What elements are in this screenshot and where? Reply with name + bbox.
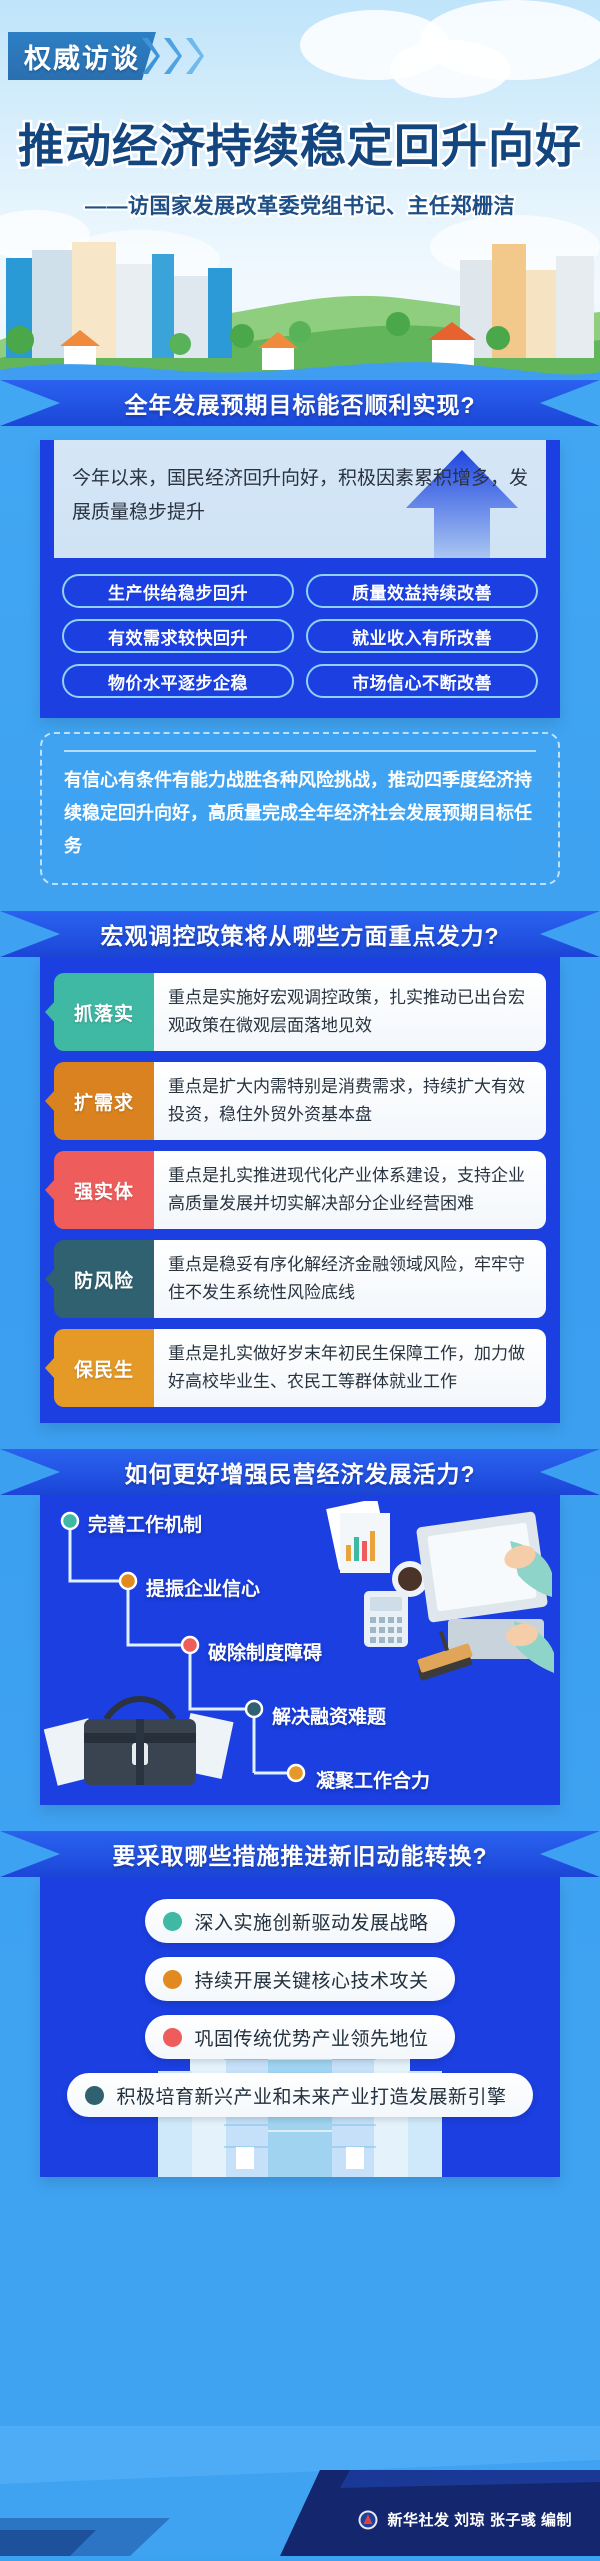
measure-item[interactable]: 深入实施创新驱动发展战略 xyxy=(145,1899,454,1943)
policy-tag: 保民生 xyxy=(54,1329,154,1407)
page-title: 推动经济持续稳定回升向好 xyxy=(0,110,600,176)
highlight-pill[interactable]: 物价水平逐步企稳 xyxy=(62,664,294,698)
step-dots xyxy=(40,1495,560,1805)
section-panel-2: 抓落实 重点是实施好宏观调控政策，扎实推动已出台宏观政策在微观层面落地见效 扩需… xyxy=(40,957,560,1423)
policy-row[interactable]: 扩需求 重点是扩大内需特别是消费需求，持续扩大有效投资，稳住外贸外资基本盘 xyxy=(54,1062,546,1140)
measure-label: 积极培育新兴产业和未来产业打造发展新引擎 xyxy=(116,2082,506,2109)
policy-row[interactable]: 抓落实 重点是实施好宏观调控政策，扎实推动已出台宏观政策在微观层面落地见效 xyxy=(54,973,546,1051)
section-panel-1: 今年以来，国民经济回升向好，积极因素累积增多，发展质量稳步提升 生产供给稳步回升… xyxy=(40,440,560,718)
policy-row[interactable]: 防风险 重点是稳妥有序化解经济金融领域风险，牢牢守住不发生系统性风险底线 xyxy=(54,1240,546,1318)
section-1-note: 有信心有条件有能力战胜各种风险挑战，推动四季度经济持续稳定回升向好，高质量完成全… xyxy=(40,732,560,885)
policy-item-list: 抓落实 重点是实施好宏观调控政策，扎实推动已出台宏观政策在微观层面落地见效 扩需… xyxy=(40,957,560,1423)
measure-item[interactable]: 巩固传统优势产业领先地位 xyxy=(145,2015,454,2059)
highlight-pill[interactable]: 就业收入有所改善 xyxy=(306,619,538,653)
category-tag: 权威访谈 xyxy=(8,32,156,80)
measure-label: 深入实施创新驱动发展战略 xyxy=(194,1908,428,1935)
credit-line: 新华社发 刘琼 张子彧 编制 xyxy=(358,2509,572,2530)
divider xyxy=(64,750,536,752)
policy-row[interactable]: 强实体 重点是扎实推进现代化产业体系建设，支持企业高质量发展并切实解决部分企业经… xyxy=(54,1151,546,1229)
bullet-dot-icon xyxy=(85,2086,104,2105)
section-heading-3: 如何更好增强民营经济发展活力? xyxy=(0,1449,600,1495)
double-chevron-right-icon xyxy=(140,32,204,80)
page-subtitle: ——访国家发展改革委党组书记、主任郑栅洁 xyxy=(0,190,600,220)
section-heading-1: 全年发展预期目标能否顺利实现? xyxy=(0,380,600,426)
bullet-dot-icon xyxy=(163,1970,182,1989)
cloud-decoration xyxy=(420,0,600,80)
highlight-pill[interactable]: 质量效益持续改善 xyxy=(306,574,538,608)
section-panel-4: 深入实施创新驱动发展战略 持续开展关键核心技术攻关 巩固传统优势产业领先地位 积… xyxy=(40,1877,560,2177)
section-heading-label: 如何更好增强民营经济发展活力? xyxy=(124,1455,475,1489)
policy-tag: 防风险 xyxy=(54,1240,154,1318)
policy-tag: 强实体 xyxy=(54,1151,154,1229)
hero-banner: 权威访谈 推动经济持续稳定回升向好 ——访国家发展改革委党组书记、主任郑栅洁 xyxy=(0,0,600,400)
highlight-pill[interactable]: 生产供给稳步回升 xyxy=(62,574,294,608)
bullet-dot-icon xyxy=(163,2028,182,2047)
policy-text: 重点是扎实推进现代化产业体系建设，支持企业高质量发展并切实解决部分企业经营困难 xyxy=(154,1151,546,1229)
note-text: 有信心有条件有能力战胜各种风险挑战，推动四季度经济持续稳定回升向好，高质量完成全… xyxy=(64,764,536,863)
measure-item[interactable]: 持续开展关键核心技术攻关 xyxy=(145,1957,454,2001)
highlight-pill-list: 生产供给稳步回升 质量效益持续改善 有效需求较快回升 就业收入有所改善 物价水平… xyxy=(40,558,560,718)
city-skyline-illustration xyxy=(0,220,600,400)
section-heading-label: 全年发展预期目标能否顺利实现? xyxy=(124,386,475,420)
footer-decoration xyxy=(0,2426,600,2556)
section-heading-label: 要采取哪些措施推进新旧动能转换? xyxy=(112,1837,487,1871)
credit-text: 新华社发 刘琼 张子彧 编制 xyxy=(387,2509,572,2530)
section-heading-label: 宏观调控政策将从哪些方面重点发力? xyxy=(100,917,499,951)
policy-row[interactable]: 保民生 重点是扎实做好岁末年初民生保障工作，加力做好高校毕业生、农民工等群体就业… xyxy=(54,1329,546,1407)
section-heading-4: 要采取哪些措施推进新旧动能转换? xyxy=(0,1831,600,1877)
lead-card: 今年以来，国民经济回升向好，积极因素累积增多，发展质量稳步提升 xyxy=(54,440,546,558)
policy-text: 重点是扩大内需特别是消费需求，持续扩大有效投资，稳住外贸外资基本盘 xyxy=(154,1062,546,1140)
bullet-dot-icon xyxy=(163,1912,182,1931)
measure-item[interactable]: 积极培育新兴产业和未来产业打造发展新引擎 xyxy=(67,2073,532,2117)
highlight-pill[interactable]: 有效需求较快回升 xyxy=(62,619,294,653)
policy-text: 重点是实施好宏观调控政策，扎实推动已出台宏观政策在微观层面落地见效 xyxy=(154,973,546,1051)
measure-list: 深入实施创新驱动发展战略 持续开展关键核心技术攻关 巩固传统优势产业领先地位 积… xyxy=(40,1899,560,2117)
xinhua-logo-icon xyxy=(358,2510,378,2530)
section-panel-3: 完善工作机制 提振企业信心 破除制度障碍 解决融资难题 凝聚工作合力 xyxy=(40,1495,560,1805)
page-footer: 新华社发 刘琼 张子彧 编制 xyxy=(0,2426,600,2556)
policy-text: 重点是稳妥有序化解经济金融领域风险，牢牢守住不发生系统性风险底线 xyxy=(154,1240,546,1318)
policy-text: 重点是扎实做好岁末年初民生保障工作，加力做好高校毕业生、农民工等群体就业工作 xyxy=(154,1329,546,1407)
policy-tag: 扩需求 xyxy=(54,1062,154,1140)
lead-text: 今年以来，国民经济回升向好，积极因素累积增多，发展质量稳步提升 xyxy=(54,440,546,530)
measure-label: 巩固传统优势产业领先地位 xyxy=(194,2024,428,2051)
highlight-pill[interactable]: 市场信心不断改善 xyxy=(306,664,538,698)
section-heading-2: 宏观调控政策将从哪些方面重点发力? xyxy=(0,911,600,957)
measure-label: 持续开展关键核心技术攻关 xyxy=(194,1966,428,1993)
policy-tag: 抓落实 xyxy=(54,973,154,1051)
